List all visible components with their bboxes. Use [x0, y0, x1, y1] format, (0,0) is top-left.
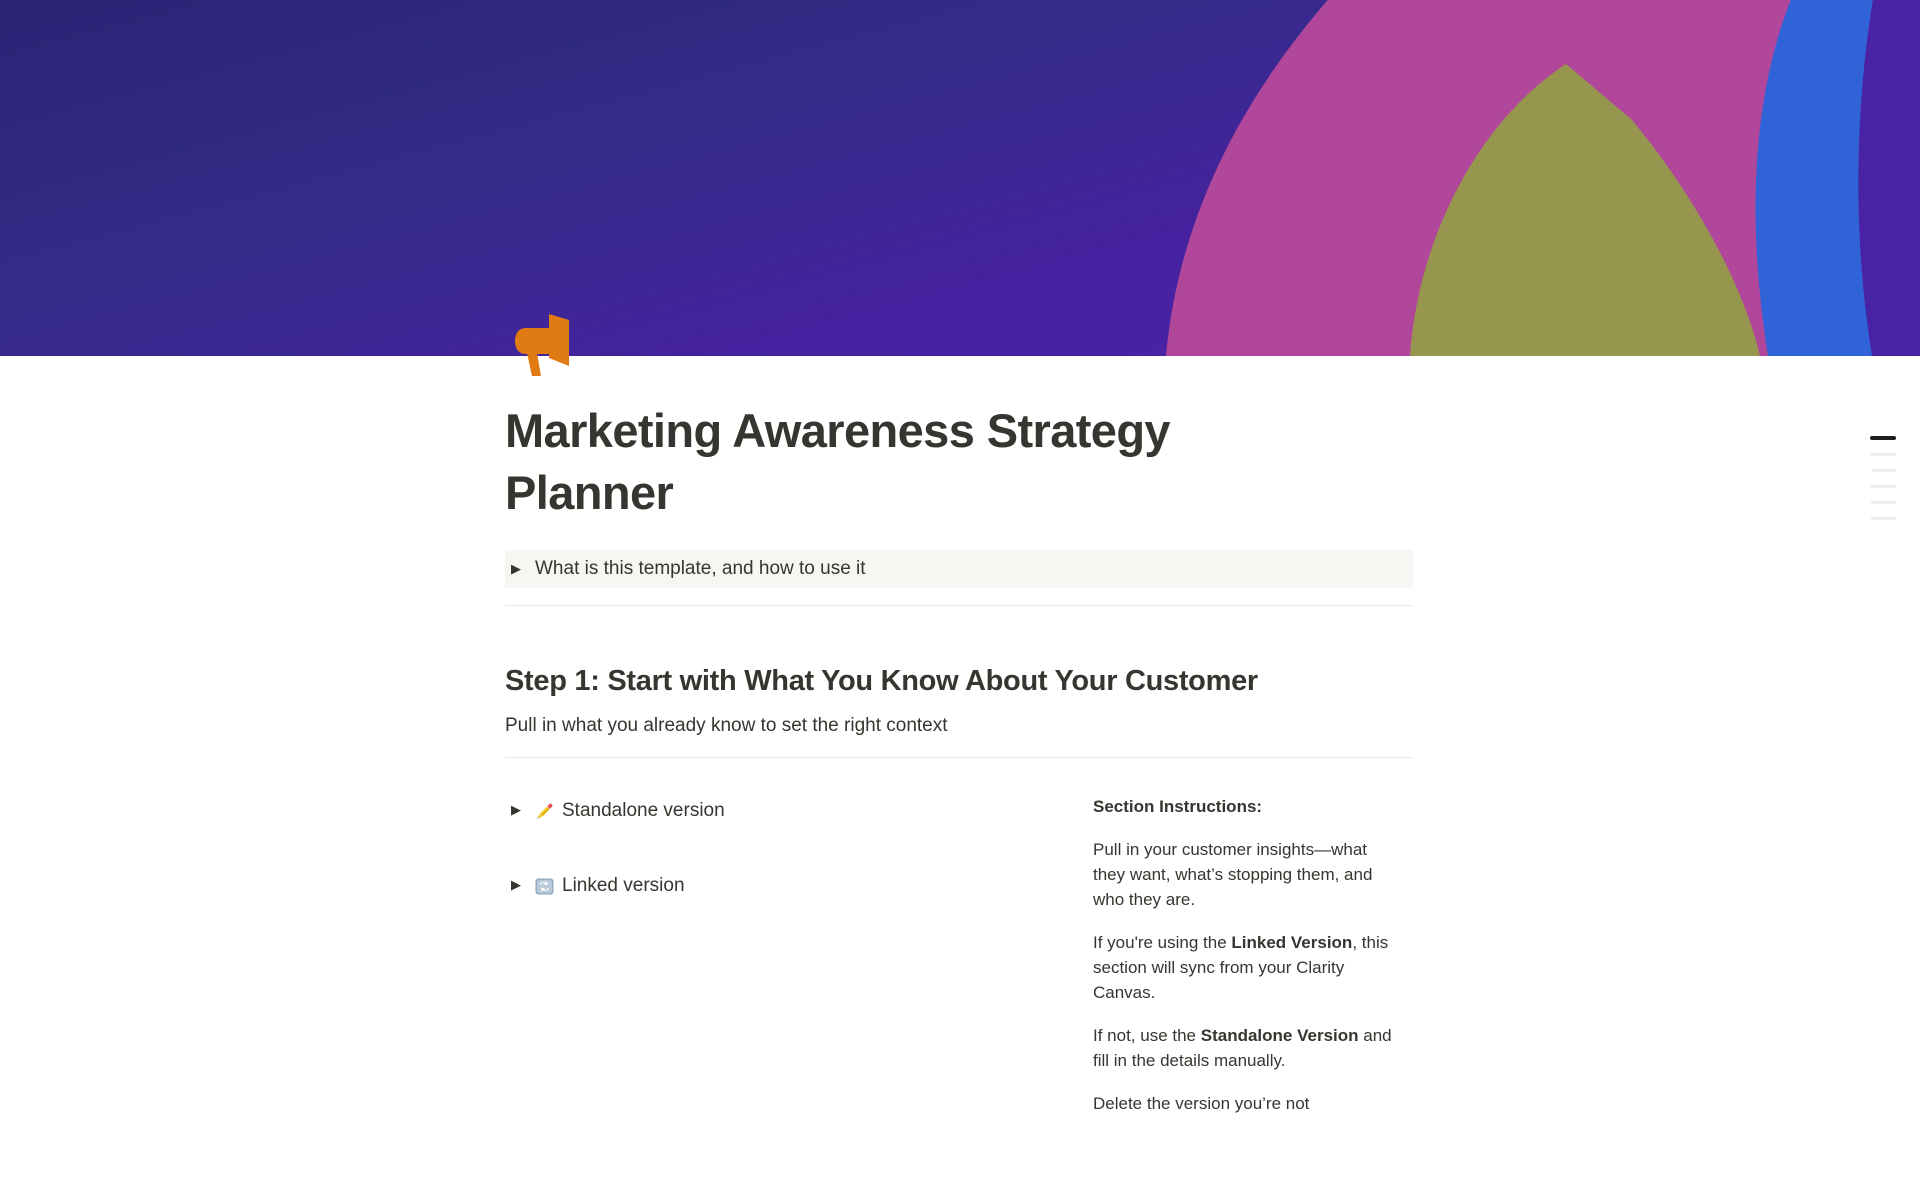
instr-p2-lead: If you're using the: [1093, 933, 1231, 952]
toggle-triangle-icon[interactable]: ▶: [505, 797, 527, 823]
versions-column: ▶ Standalone version ▶: [505, 794, 985, 1116]
megaphone-icon[interactable]: [505, 300, 583, 378]
instructions-title: Section Instructions:: [1093, 794, 1393, 819]
instr-p3-lead: If not, use the: [1093, 1026, 1201, 1045]
toc-item[interactable]: [1872, 469, 1896, 472]
toggle-triangle-icon[interactable]: ▶: [505, 872, 527, 898]
instructions-paragraph-3: If not, use the Standalone Version and f…: [1093, 1023, 1393, 1073]
intro-toggle-block[interactable]: ▶ What is this template, and how to use …: [505, 550, 1413, 588]
pencil-icon: [535, 797, 554, 821]
toc-item-active[interactable]: [1870, 436, 1896, 440]
section-heading[interactable]: Step 1: Start with What You Know About Y…: [505, 606, 1413, 700]
instructions-column: Section Instructions: Pull in your custo…: [1093, 794, 1393, 1116]
divider-after-section-subtitle: [505, 757, 1413, 758]
standalone-version-toggle[interactable]: ▶ Standalone version: [505, 794, 985, 827]
cover-abstract-shapes: [0, 0, 1920, 356]
notion-page: Marketing Awareness Strategy Planner ▶ W…: [0, 0, 1920, 1199]
instructions-paragraph-4: Delete the version you’re not: [1093, 1091, 1393, 1116]
section-subtitle[interactable]: Pull in what you already know to set the…: [505, 712, 1413, 740]
toggle-triangle-icon[interactable]: ▶: [505, 556, 527, 582]
instr-p2-bold: Linked Version: [1231, 933, 1352, 952]
pencil-emoji-glyph: [535, 802, 554, 821]
standalone-version-label[interactable]: Standalone version: [562, 797, 725, 824]
section-columns: ▶ Standalone version ▶: [505, 794, 1413, 1116]
repeat-icon: [535, 872, 554, 896]
toc-item[interactable]: [1870, 485, 1896, 488]
linked-version-toggle[interactable]: ▶ Linked version: [505, 869, 985, 902]
instructions-paragraph-1: Pull in your customer insights—what they…: [1093, 837, 1393, 912]
megaphone-emoji-glyph: [505, 300, 583, 378]
linked-version-label[interactable]: Linked version: [562, 872, 685, 899]
toc-item[interactable]: [1870, 453, 1896, 456]
page-cover-image[interactable]: [0, 0, 1920, 356]
instr-p3-bold: Standalone Version: [1201, 1026, 1359, 1045]
intro-toggle-label[interactable]: What is this template, and how to use it: [535, 556, 866, 582]
instructions-paragraph-2: If you're using the Linked Version, this…: [1093, 930, 1393, 1005]
toc-item[interactable]: [1871, 501, 1896, 504]
mini-table-of-contents[interactable]: [1856, 436, 1896, 533]
page-content: Marketing Awareness Strategy Planner ▶ W…: [505, 400, 1413, 1116]
toc-item[interactable]: [1871, 517, 1896, 520]
page-title[interactable]: Marketing Awareness Strategy Planner: [505, 400, 1305, 524]
repeat-emoji-glyph: [535, 877, 554, 896]
